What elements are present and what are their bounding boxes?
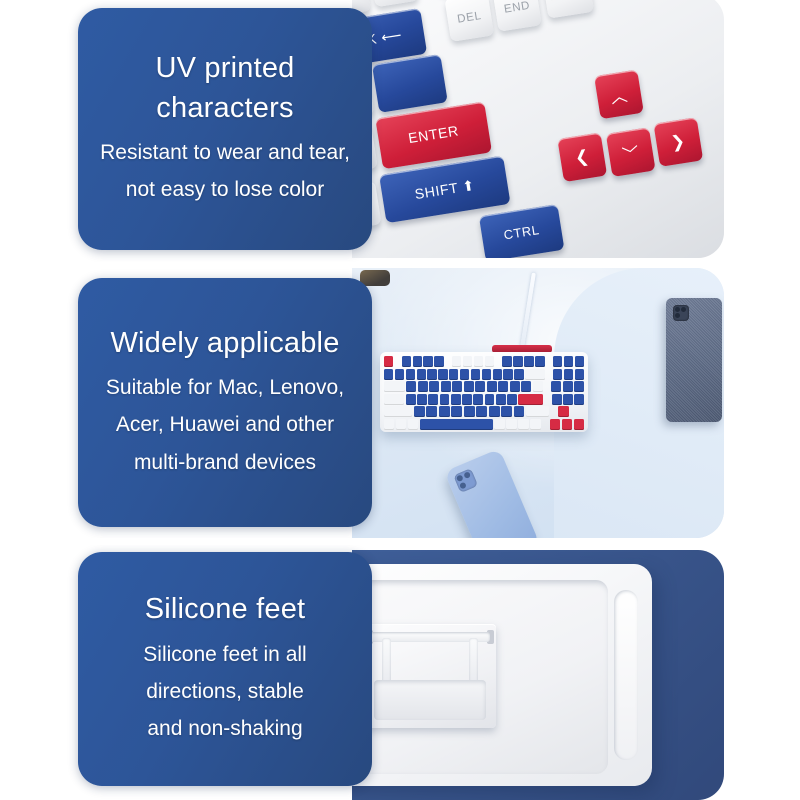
caption-body: Resistant to wear and tear, not easy to …	[94, 134, 356, 209]
desk-top-down-photo	[352, 268, 724, 538]
caption-card-widely-applicable: Widely applicable Suitable for Mac, Leno…	[78, 278, 372, 527]
caption-card-silicone-feet: Silicone feet Silicone feet in all direc…	[78, 552, 372, 786]
caption-body-line: Silicone feet in all	[143, 636, 306, 673]
keycap-arrow-up: ︿	[594, 69, 644, 119]
caption-body-line: Resistant to wear and tear,	[100, 134, 350, 171]
caption-body-line: directions, stable	[143, 673, 306, 710]
foot-pad	[374, 680, 486, 720]
caption-body: Silicone feet in all directions, stable …	[137, 636, 312, 748]
caption-title: Silicone feet	[135, 590, 316, 629]
feature-panel-silicone-feet: Silicone feet Silicone feet in all direc…	[0, 545, 800, 800]
keyboard-underside	[352, 564, 652, 786]
caption-title: UV printed characters	[78, 49, 372, 127]
silicone-foot-stand	[364, 624, 496, 728]
keycap-end: END	[492, 0, 542, 32]
caption-body-line: Acer, Huawei and other	[106, 406, 344, 443]
caption-title-line: characters	[156, 92, 293, 124]
feature-panel-uv-printed-characters: BACK ⟵ INS PGUP DEL END PGDN ENTER SHIFT…	[0, 0, 800, 262]
keycap-ctrl: CTRL	[479, 204, 565, 258]
caption-title-line: UV printed	[155, 52, 294, 84]
keycap-pgdn: PGDN	[542, 0, 594, 19]
underside-side-rail	[614, 590, 638, 760]
keyboard-macro-keys-photo: BACK ⟵ INS PGUP DEL END PGDN ENTER SHIFT…	[352, 0, 724, 258]
caption-title: Widely applicable	[100, 324, 349, 363]
caption-card-uv-printed-characters: UV printed characters Resistant to wear …	[78, 8, 372, 250]
keycap-arrow-down: ﹀	[606, 127, 656, 177]
tablet-fabric-case	[666, 298, 722, 422]
caption-body-line: not easy to lose color	[100, 171, 350, 208]
keyboard-deck: BACK ⟵ INS PGUP DEL END PGDN ENTER SHIFT…	[352, 0, 724, 258]
caption-body: Suitable for Mac, Lenovo, Acer, Huawei a…	[100, 369, 350, 481]
caption-body-line: Suitable for Mac, Lenovo,	[106, 369, 344, 406]
caption-title-line: Widely applicable	[110, 327, 339, 359]
keycap-arrow-left: ❮	[557, 132, 607, 182]
keycap-arrow-right: ❯	[653, 117, 703, 167]
keycap-del: DEL	[444, 0, 494, 42]
camera-module-icon	[673, 305, 689, 321]
camera-module-icon	[453, 468, 478, 493]
product-feature-page: BACK ⟵ INS PGUP DEL END PGDN ENTER SHIFT…	[0, 0, 800, 800]
keycap-backslash	[372, 54, 448, 113]
keyboard-top-view	[380, 352, 588, 432]
caption-body-line: multi-brand devices	[106, 444, 344, 481]
caption-body-line: and non-shaking	[143, 710, 306, 747]
feature-panel-widely-applicable: Widely applicable Suitable for Mac, Leno…	[0, 268, 800, 538]
keyboard-underside-foot-photo	[352, 550, 724, 800]
caption-title-line: Silicone feet	[145, 593, 306, 625]
